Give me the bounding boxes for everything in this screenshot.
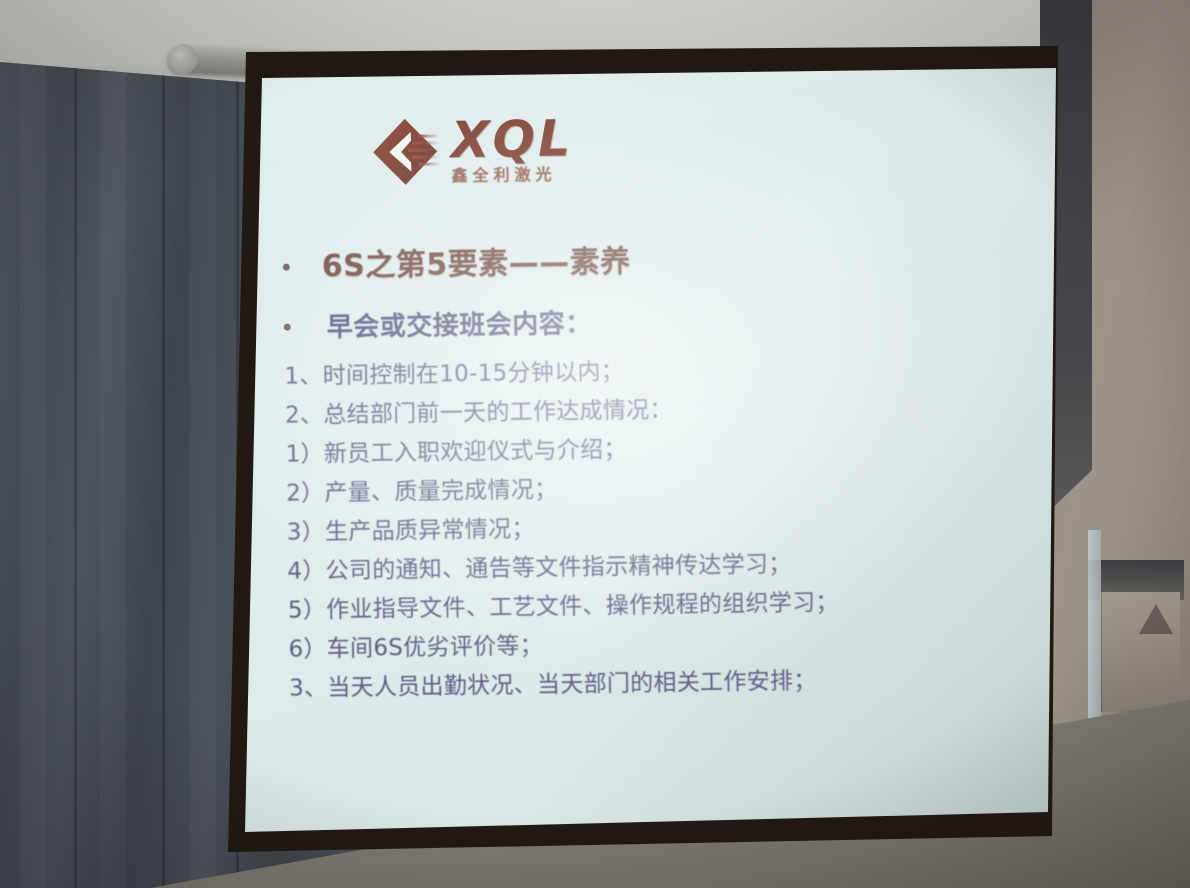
projector-room-scene: XQL 鑫全利激光 6S之第5要素——素养 早会或交接班会内容： 1、时间控制在… (0, 0, 1190, 888)
list-item-text: 1）新员工入职欢迎仪式与介绍； (285, 430, 627, 469)
list-item: 4）公司的通知、通告等文件指示精神传达学习； (287, 540, 1057, 585)
list-item: 6）车间6S优劣评价等； (288, 618, 1058, 663)
list-item: 3、当天人员出勤状况、当天部门的相关工作安排； (289, 657, 1058, 702)
bullet-icon (284, 324, 291, 331)
list-item: 2、总结部门前一天的工作达成情况： (285, 384, 1055, 429)
list-item-text: 3）生产品质异常情况； (287, 509, 535, 547)
projection-screen: XQL 鑫全利激光 6S之第5要素——素养 早会或交接班会内容： 1、时间控制在… (200, 46, 1058, 852)
curtain-highlight (190, 62, 216, 888)
list-item-text: 6）车间6S优劣评价等； (288, 626, 543, 664)
curtain-highlight (20, 62, 46, 888)
curtain-fold (162, 62, 165, 888)
bullet-icon (283, 264, 290, 271)
slide-content: XQL 鑫全利激光 6S之第5要素——素养 早会或交接班会内容： 1、时间控制在… (262, 62, 1058, 824)
list-item: 3）生产品质异常情况； (287, 501, 1057, 546)
page-title: 6S之第5要素——素养 (321, 237, 630, 286)
slide-body: 6S之第5要素——素养 早会或交接班会内容： 1、时间控制在10-15分钟以内；… (282, 230, 1058, 707)
list-item-text: 2）产量、质量完成情况； (286, 470, 558, 508)
list-item-text: 4）公司的通知、通告等文件指示精神传达学习； (287, 544, 792, 585)
slide-subtitle: 早会或交接班会内容： (326, 303, 592, 344)
list-item: 1、时间控制在10-15分钟以内； (284, 345, 1054, 390)
list-item: 2）产量、质量完成情况； (286, 462, 1056, 507)
curtain-fold (74, 62, 77, 888)
list-item-text: 3、当天人员出勤状况、当天部门的相关工作安排； (289, 661, 817, 703)
list-item-text: 2、总结部门前一天的工作达成情况： (285, 390, 673, 430)
list-item: 5）作业指导文件、工艺文件、操作规程的组织学习； (288, 579, 1058, 624)
slide-title-line: 6S之第5要素——素养 (282, 230, 1053, 285)
curtain-highlight (100, 62, 126, 888)
list-item: 1）新员工入职欢迎仪式与介绍； (285, 423, 1055, 468)
logo-subtitle: 鑫全利激光 (451, 166, 573, 184)
list-item-text: 5）作业指导文件、工艺文件、操作规程的组织学习； (288, 583, 839, 625)
xql-diamond-logo-icon (373, 118, 438, 185)
warning-triangle-icon (1139, 604, 1173, 634)
company-logo: XQL 鑫全利激光 (373, 113, 574, 185)
list-item-text: 1、时间控制在10-15分钟以内； (284, 352, 624, 391)
slide-subtitle-line: 早会或交接班会内容： (283, 296, 1053, 344)
logo-wordmark: XQL (451, 113, 574, 165)
